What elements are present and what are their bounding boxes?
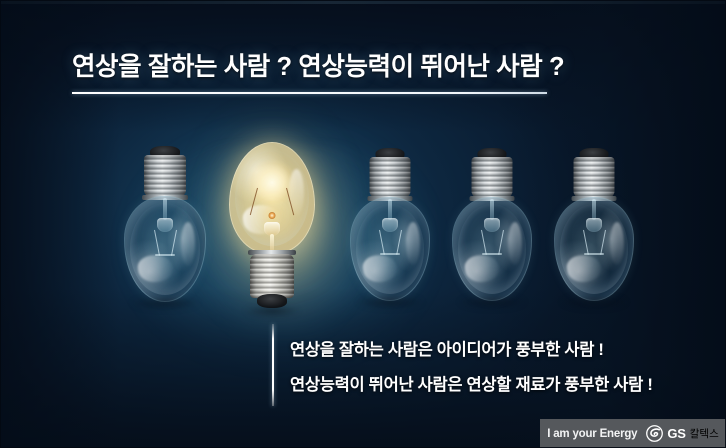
bulb-4-wire-left [481,230,487,255]
bulb-3-base [370,157,411,198]
caption-line-1: 연상을 잘하는 사람은 아이디어가 풍부한 사람 ! [290,336,653,360]
bulb-1-coil [155,254,175,256]
caption-line-2: 연상능력이 뛰어난 사람은 연상할 재료가 풍부한 사람 ! [290,371,653,395]
bulb-4-coil [482,253,502,255]
bulb-1-base [144,155,186,197]
bulb-4-cup [484,218,500,232]
bulb-2-filament-core [269,212,276,219]
top-edge-line [0,0,726,4]
bulb-2-base [250,254,294,298]
lightbulb-5 [552,148,636,306]
gs-swirl-icon [646,425,663,442]
bulb-1-stem [163,198,167,220]
logo-brand-korean: 칼텍스 [690,426,719,441]
lightbulb-2-lit [226,142,318,312]
bulb-4-filament [472,199,512,259]
bulb-3-stem [388,199,392,220]
lightbulb-1 [122,146,208,306]
bulb-5-shadow [560,295,628,309]
title-block: 연상을 잘하는 사람 ? 연상능력이 뛰어난 사람 ? [72,46,632,94]
caption-block: 연상을 잘하는 사람은 아이디어가 풍부한 사람 ! 연상능력이 뛰어난 사람은… [272,324,653,406]
bulb-4-stem [490,199,494,220]
bulb-3-cup [382,218,398,232]
lightbulb-4 [450,148,534,306]
bulb-1-cup [157,218,173,232]
bulb-3-wire-left [379,230,385,255]
bulb-3-filament [370,199,410,259]
bulb-1-wire-left [154,230,160,256]
bulb-5-cup [586,218,602,232]
page-title: 연상을 잘하는 사람 ? 연상능력이 뛰어난 사람 ? [72,46,632,83]
bulb-5-stem [592,199,596,220]
bulb-5-filament [574,199,614,259]
banner-image: 연상을 잘하는 사람 ? 연상능력이 뛰어난 사람 ? 연상을 잘하는 사람은 … [0,0,726,448]
bulb-2-filament [251,188,293,252]
bulb-3-shadow [356,295,424,309]
bulb-2-shadow [244,305,300,317]
bulb-5-base [574,157,615,198]
bulb-4-shadow [458,295,526,309]
bulb-1-wire-right [171,230,177,256]
bulb-4-wire-right [498,230,504,255]
bulb-2-wire-left [250,188,259,215]
bulb-1-filament [145,198,185,260]
logo-brand-text: GS [667,426,685,441]
bulb-1-shadow [130,296,200,310]
bulb-3-wire-right [396,230,402,255]
logo-tagline: I am your Energy [547,428,637,440]
logo-bar: I am your Energy GS 칼텍스 [540,419,726,448]
bulb-4-base [472,157,513,198]
lightbulb-3 [348,148,432,306]
bulb-5-wire-right [600,230,606,255]
gs-caltex-logo: GS 칼텍스 [646,425,718,442]
bulb-5-coil [584,253,604,255]
bulb-3-coil [380,253,400,255]
bulb-5-wire-left [583,230,589,255]
title-underline [72,92,547,94]
caption-text-group: 연상을 잘하는 사람은 아이디어가 풍부한 사람 ! 연상능력이 뛰어난 사람은… [274,324,653,406]
